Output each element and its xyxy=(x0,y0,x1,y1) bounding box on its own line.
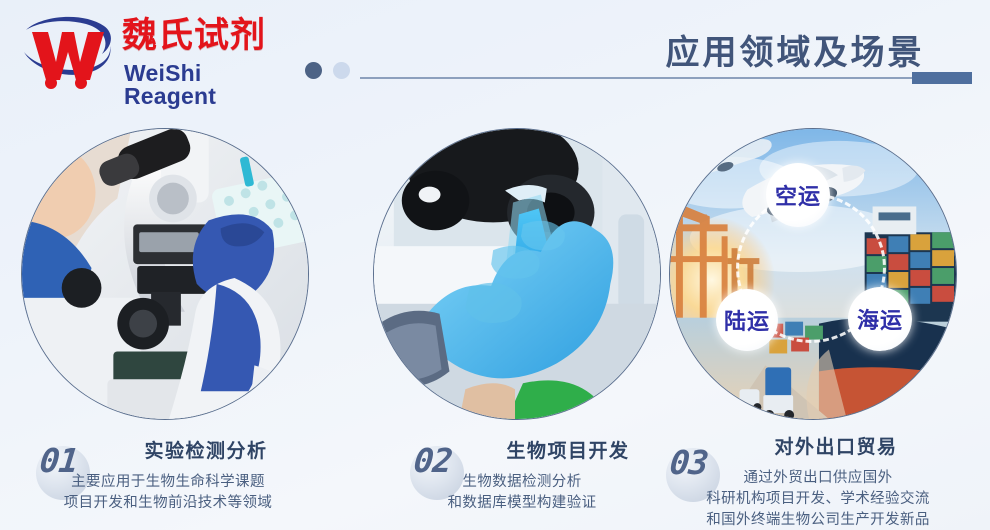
card-description: 主要应用于生物生命科学课题 项目开发和生物前沿技术等领域 xyxy=(18,472,318,514)
page-header: 魏氏试剂 WeiShi Reagent 应用领域及场景 xyxy=(0,0,990,112)
card-caption: 03 对外出口贸易 通过外贸出口供应国外 科研机构项目开发、学术经验交流 和国外… xyxy=(648,428,978,530)
card-caption: 02 生物项目开发 生物数据检测分析 和数据库模型构建验证 xyxy=(352,428,682,530)
application-cards: 01 实验检测分析 主要应用于生物生命科学课题 项目开发和生物前沿技术等领域 xyxy=(0,112,990,530)
decor-dot-dark xyxy=(305,62,322,79)
card-title: 对外出口贸易 xyxy=(726,438,946,457)
brand-name-en: WeiShi Reagent xyxy=(124,62,298,108)
logistics-export-photo: 空运 陆运 海运 xyxy=(669,128,957,420)
card-description: 通过外贸出口供应国外 科研机构项目开发、学术经验交流 和国外终端生物公司生产开发… xyxy=(648,468,988,530)
brand-name-cn: 魏氏试剂 xyxy=(122,19,266,54)
weishi-w-logo-icon xyxy=(18,12,118,92)
air-freight-badge: 空运 xyxy=(766,163,830,227)
blue-flask-photo xyxy=(373,128,661,420)
sea-freight-badge: 海运 xyxy=(848,287,912,351)
title-divider-line xyxy=(360,77,912,79)
decor-dot-light xyxy=(333,62,350,79)
card-bio-project-development[interactable]: 02 生物项目开发 生物数据检测分析 和数据库模型构建验证 xyxy=(352,112,682,530)
brand-logo[interactable]: 魏氏试剂 WeiShi Reagent xyxy=(18,8,298,96)
land-freight-badge: 陆运 xyxy=(716,289,778,351)
card-experiment-analysis[interactable]: 01 实验检测分析 主要应用于生物生命科学课题 项目开发和生物前沿技术等领域 xyxy=(0,112,330,530)
microscope-lab-photo xyxy=(21,128,309,420)
card-title: 生物项目开发 xyxy=(478,442,658,461)
card-description: 生物数据检测分析 和数据库模型构建验证 xyxy=(392,472,652,514)
card-export-trade[interactable]: 空运 陆运 海运 03 对外出口贸易 通过外贸出口供应国外 科研机构项目开发、学… xyxy=(648,112,978,530)
page-title: 应用领域及场景 xyxy=(600,30,990,76)
card-caption: 01 实验检测分析 主要应用于生物生命科学课题 项目开发和生物前沿技术等领域 xyxy=(0,428,330,530)
card-title: 实验检测分析 xyxy=(106,442,306,461)
